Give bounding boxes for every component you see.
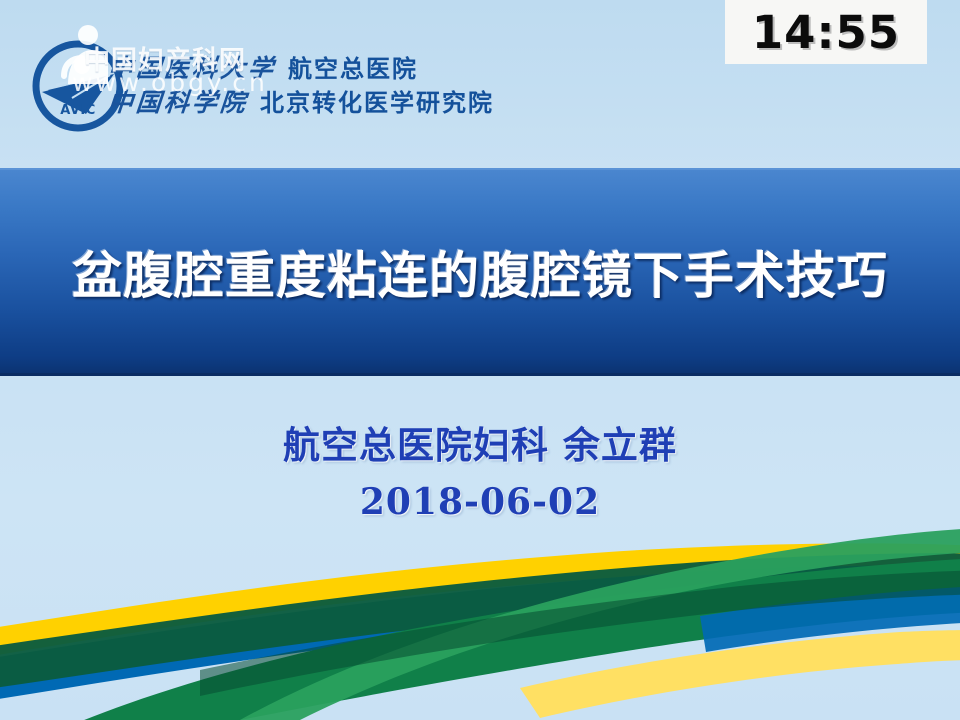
org-line-2-bold: 北京转化医学研究院: [260, 91, 494, 115]
organization-line-2: 中国科学院 北京转化医学研究院: [108, 90, 494, 115]
organization-line-1: 中国医科大学 航空总医院: [108, 56, 494, 81]
org-line-1-bold: 航空总医院: [288, 57, 418, 81]
clock-time: 14:55: [752, 6, 900, 59]
title-band: 盆腹腔重度粘连的腹腔镜下手术技巧: [0, 168, 960, 376]
svg-text:AVIC: AVIC: [60, 103, 96, 118]
org-line-2-script: 中国科学院: [107, 90, 249, 115]
date-line: 2018-06-02: [0, 481, 960, 523]
presenter-line: 航空总医院妇科 余立群: [0, 415, 960, 469]
organization-names: 中国医科大学 航空总医院 中国科学院 北京转化医学研究院: [108, 56, 494, 115]
presentation-slide: AVIC 中国医科大学 航空总医院 中国科学院 北京转化医学研究院 中国妇产科网: [0, 0, 960, 720]
slide-title: 盆腹腔重度粘连的腹腔镜下手术技巧: [72, 236, 888, 308]
decorative-ribbon-graphic: [0, 520, 960, 720]
subtitle-block: 航空总医院妇科 余立群 2018-06-02: [0, 415, 960, 523]
clock-overlay: 14:55: [725, 0, 927, 64]
org-line-1-script: 中国医科大学: [107, 56, 277, 81]
